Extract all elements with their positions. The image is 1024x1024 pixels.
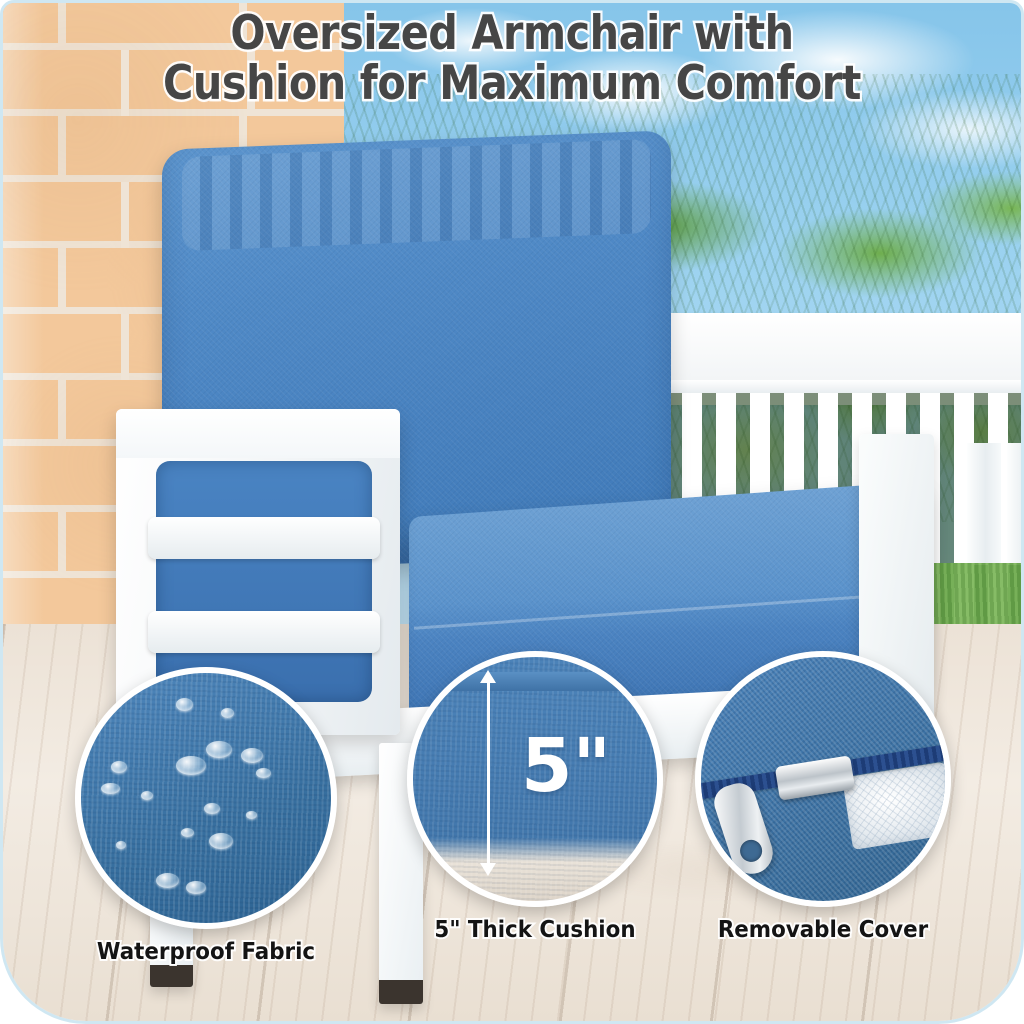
zipper-slider-icon: [775, 755, 855, 800]
arrow-head-down-icon: [480, 863, 496, 876]
feature-thickness: 5" 5" Thick Cushion: [407, 651, 663, 907]
water-droplet-icon: [246, 811, 257, 819]
water-droplet-icon: [156, 873, 179, 888]
water-droplet-icon: [221, 708, 234, 718]
water-droplet-icon: [111, 761, 127, 773]
feature-waterproof: Waterproof Fabric: [75, 667, 337, 929]
arrow-head-up-icon: [480, 670, 496, 683]
porch-column-right: [1007, 443, 1024, 565]
cushion-top-edge: [413, 672, 657, 692]
zipper-closeup: [695, 651, 951, 907]
water-droplet-icon: [176, 698, 193, 711]
leg-foot-pad: [379, 980, 422, 1003]
image-frame: Oversized Armchair with Cushion for Maxi…: [0, 0, 1024, 1024]
water-droplet-icon: [181, 828, 194, 837]
feature-caption: Waterproof Fabric: [97, 939, 315, 965]
cushion-thickness-closeup: 5": [407, 651, 663, 907]
water-droplet-icon: [206, 741, 232, 758]
feature-caption: 5" Thick Cushion: [434, 917, 635, 943]
water-droplet-icon: [256, 768, 271, 778]
thickness-value: 5": [521, 729, 611, 803]
water-droplet-icon: [241, 748, 263, 763]
exposed-foam-insert: [842, 761, 951, 850]
feature-removable-cover: Removable Cover: [695, 651, 951, 907]
product-infographic: Oversized Armchair with Cushion for Maxi…: [0, 0, 1024, 1024]
arm-top-rail: [116, 409, 400, 458]
dimension-arrow-icon: [487, 681, 490, 865]
water-droplet-icon: [209, 833, 233, 849]
feature-caption: Removable Cover: [718, 917, 928, 943]
water-droplet-icon: [186, 881, 206, 894]
water-droplet-icon: [204, 803, 220, 814]
waterproof-fabric-closeup: [75, 667, 337, 929]
zipper-pull-tab-icon: [710, 779, 778, 879]
porch-column-left: [967, 443, 1001, 565]
water-droplet-icon: [116, 841, 126, 849]
water-droplet-icon: [101, 783, 120, 794]
water-droplet-icon: [141, 791, 153, 800]
arm-slat-upper: [148, 517, 381, 559]
water-droplet-icon: [176, 756, 206, 775]
leg-foot-pad: [150, 965, 193, 987]
arm-slat-lower: [148, 611, 381, 653]
